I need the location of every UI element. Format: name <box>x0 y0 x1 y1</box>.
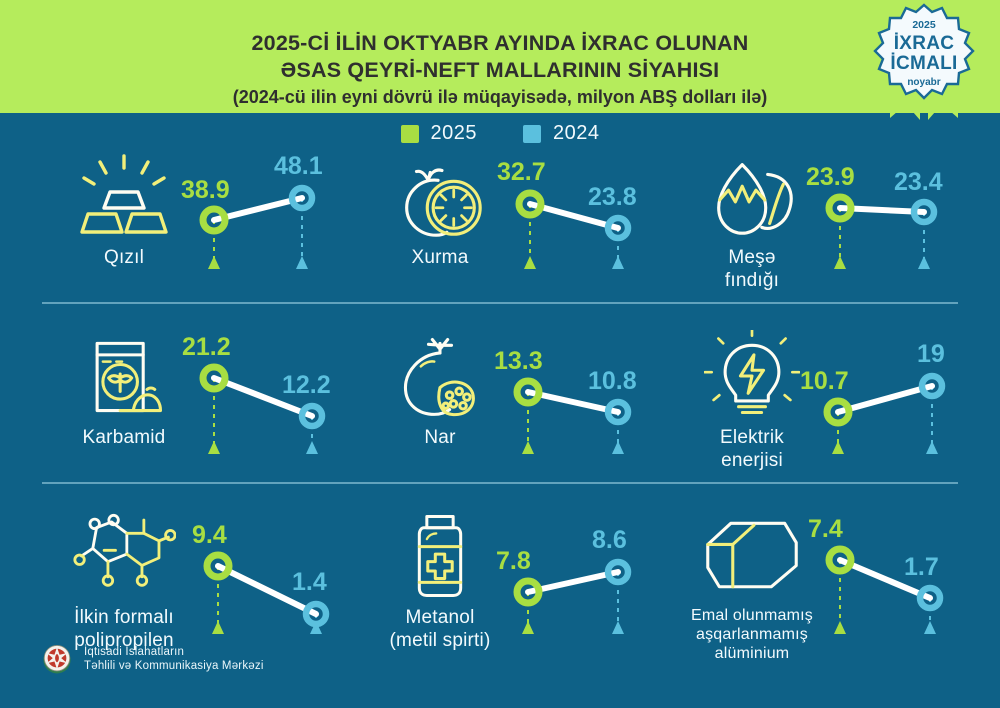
icon-label: Karbamid <box>83 426 166 449</box>
footer-line-2: Təhlili və Kommunikasiya Mərkəzi <box>84 659 264 673</box>
title-line-1: 2025-Cİ İLİN OKTYABR AYINDA İXRAC OLUNAN <box>0 30 1000 57</box>
value-2025: 9.4 <box>192 521 227 550</box>
icon-label: Elektrik enerjisi <box>720 426 784 472</box>
header-banner: 2025-Cİ İLİN OKTYABR AYINDA İXRAC OLUNAN… <box>0 0 1000 113</box>
value-2025: 23.9 <box>806 163 855 192</box>
value-2025: 13.3 <box>494 347 543 376</box>
badge-line-2: İCMALI <box>890 54 957 73</box>
value-2024: 48.1 <box>274 152 323 181</box>
chart-legend: 2025 2024 <box>0 122 1000 145</box>
value-2025: 7.4 <box>808 515 843 544</box>
legend-label-2024: 2024 <box>553 122 600 145</box>
commodity-cell-metanol: Metanol (metil spirti) 7.8 8.6 <box>350 510 670 690</box>
gold-bars-icon <box>71 150 177 242</box>
legend-swatch-2024 <box>523 125 541 143</box>
icon-label: Metanol (metil spirti) <box>390 606 491 652</box>
row-separator <box>42 302 958 304</box>
commodity-cell-aluminium: Emal olunmamış aşqarlanmamış alüminium 7… <box>662 510 982 690</box>
value-2025: 32.7 <box>497 158 546 187</box>
footer-logo: İqtisadi İslahatların Təhlili və Kommuni… <box>40 642 264 676</box>
molecule-icon <box>71 510 177 602</box>
slope-lines <box>500 510 675 690</box>
lightbulb-icon <box>699 330 805 422</box>
commodity-row: Karbamid 21.2 12.2 <box>0 330 1000 510</box>
value-2024: 23.8 <box>588 183 637 212</box>
fertilizer-bag-icon <box>71 330 177 422</box>
value-2024: 10.8 <box>588 367 637 396</box>
title-subtitle: (2024-cü ilin eyni dövrü ilə müqayisədə,… <box>0 84 1000 111</box>
slope-chart: 7.8 8.6 <box>500 510 675 690</box>
icon-label: Xurma <box>412 246 469 269</box>
badge-year: 2025 <box>912 20 935 31</box>
value-2024: 1.7 <box>904 553 939 582</box>
icon-label: Qızıl <box>104 246 144 269</box>
title-line-2: ƏSAS QEYRİ-NEFT MALLARININ SİYAHISI <box>0 57 1000 84</box>
value-2025: 10.7 <box>800 367 849 396</box>
commodity-grid: Qızıl 38.9 48.1 <box>0 150 1000 690</box>
legend-item-2025: 2025 <box>401 122 478 145</box>
icon-label: Nar <box>424 426 455 449</box>
persimmon-icon <box>387 150 493 242</box>
footer-text: İqtisadi İslahatların Təhlili və Kommuni… <box>84 645 264 673</box>
icon-label: Emal olunmamış aşqarlanmamış alüminium <box>691 606 813 663</box>
medicine-bottle-icon <box>387 510 493 602</box>
page-title: 2025-Cİ İLİN OKTYABR AYINDA İXRAC OLUNAN… <box>0 30 1000 111</box>
value-2024: 8.6 <box>592 526 627 555</box>
value-2024: 23.4 <box>894 168 943 197</box>
hazelnut-icon <box>699 150 805 242</box>
commodity-row: Qızıl 38.9 48.1 <box>0 150 1000 330</box>
row-separator <box>42 482 958 484</box>
value-2025: 7.8 <box>496 547 531 576</box>
icon-label: Meşə fındığı <box>725 246 779 292</box>
value-2025: 21.2 <box>182 333 231 362</box>
pomegranate-icon <box>387 330 493 422</box>
badge-month: noyabr <box>907 78 940 88</box>
aluminium-ingot-icon <box>699 510 805 602</box>
legend-label-2025: 2025 <box>431 122 478 145</box>
legend-swatch-2025 <box>401 125 419 143</box>
value-2024: 12.2 <box>282 371 331 400</box>
legend-item-2024: 2024 <box>523 122 600 145</box>
ixrac-icmali-badge: 2025 İXRAC İCMALI noyabr <box>858 0 990 126</box>
organization-emblem-icon <box>40 642 74 676</box>
badge-text: 2025 İXRAC İCMALI noyabr <box>872 2 976 106</box>
footer-line-1: İqtisadi İslahatların <box>84 645 264 659</box>
slope-chart: 7.4 1.7 <box>812 510 987 690</box>
value-2024: 19 <box>917 340 945 369</box>
value-2024: 1.4 <box>292 568 327 597</box>
value-2025: 38.9 <box>181 176 230 205</box>
badge-line-1: İXRAC <box>894 34 955 53</box>
